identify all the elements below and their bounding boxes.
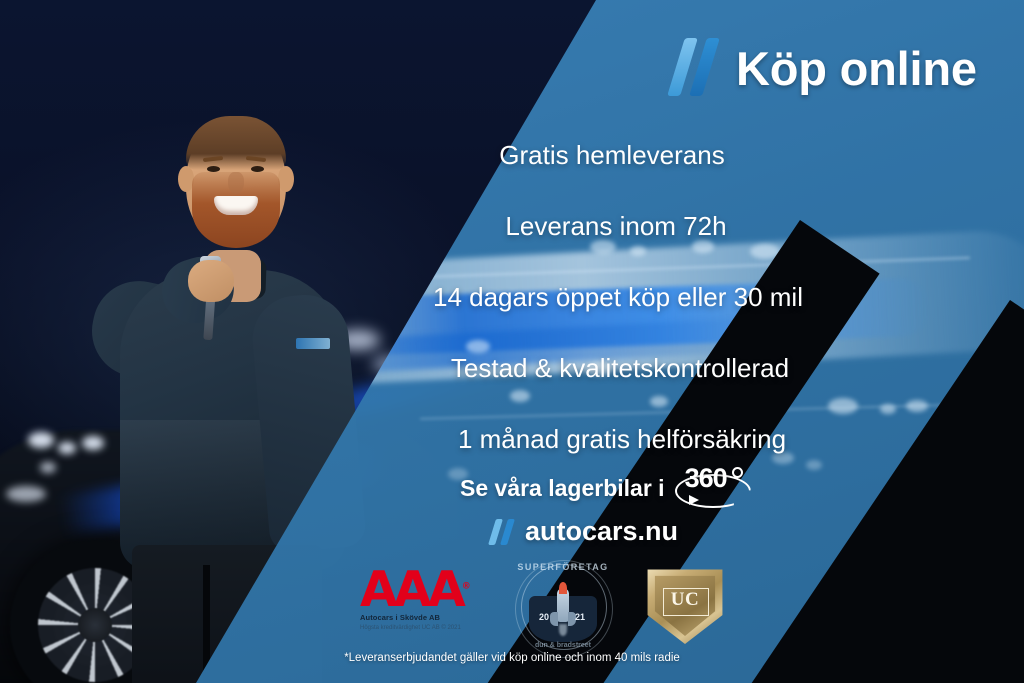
aaa-logo: AAA® Autocars i Skövde AB Högsta kreditv…: [360, 570, 490, 632]
superforetag-year-right: 21: [575, 612, 585, 622]
certification-logos: AAA® Autocars i Skövde AB Högsta kreditv…: [350, 560, 750, 650]
page-title: Köp online: [736, 41, 977, 96]
cta-text: Se våra lagerbilar i: [460, 475, 665, 502]
website-link[interactable]: autocars.nu: [525, 516, 678, 547]
uc-mark: UC: [663, 587, 707, 613]
cta-line-1: Se våra lagerbilar i 360: [460, 466, 747, 510]
aaa-letters: AAA: [360, 561, 462, 618]
disclaimer-text: *Leveranserbjudandet gäller vid köp onli…: [0, 652, 1024, 664]
orbit-arrow-icon: [689, 495, 699, 505]
superforetag-provider: dun & bradstreet: [513, 642, 613, 649]
degree-symbol-icon: [732, 467, 743, 478]
banner-content: Köp online Gratis hemleverans Leverans i…: [0, 0, 1024, 683]
feature-item: Gratis hemleverans: [200, 140, 1024, 171]
ad-banner: Köp online Gratis hemleverans Leverans i…: [0, 0, 1024, 683]
double-slash-logo-small-icon: [490, 519, 518, 545]
rocket-nose-icon: [559, 582, 567, 594]
feature-list: Gratis hemleverans Leverans inom 72h 14 …: [0, 140, 1024, 495]
aaa-company-name: Autocars i Skövde AB: [360, 613, 490, 622]
feature-item: Leverans inom 72h: [208, 211, 1024, 242]
badge-360-number: 360: [685, 465, 727, 492]
cta-line-2[interactable]: autocars.nu: [490, 516, 747, 547]
cta-block[interactable]: Se våra lagerbilar i 360 autocars.nu: [460, 466, 747, 547]
double-slash-logo-icon: [672, 38, 720, 98]
feature-item: 1 månad gratis helförsäkring: [220, 424, 1024, 455]
rocket-flame-icon: [559, 624, 567, 636]
rocket-fin-left-icon: [550, 612, 558, 626]
feature-item: 14 dagars öppet köp eller 30 mil: [212, 282, 1024, 313]
feature-item: Testad & kvalitetskontrollerad: [216, 353, 1024, 384]
aaa-credit-rating: Högsta kreditvärdighet UC AB © 2021: [360, 624, 490, 632]
superforetag-logo: SUPERFÖRETAG 20 21 dun & bradstreet: [513, 560, 613, 652]
registered-icon: ®: [462, 582, 467, 592]
superforetag-year-left: 20: [539, 612, 549, 622]
headline-row: Köp online: [672, 38, 977, 98]
uc-logo: UC: [646, 568, 724, 644]
badge-360-icon: 360: [675, 466, 747, 510]
aaa-logo-mark: AAA®: [360, 570, 490, 610]
